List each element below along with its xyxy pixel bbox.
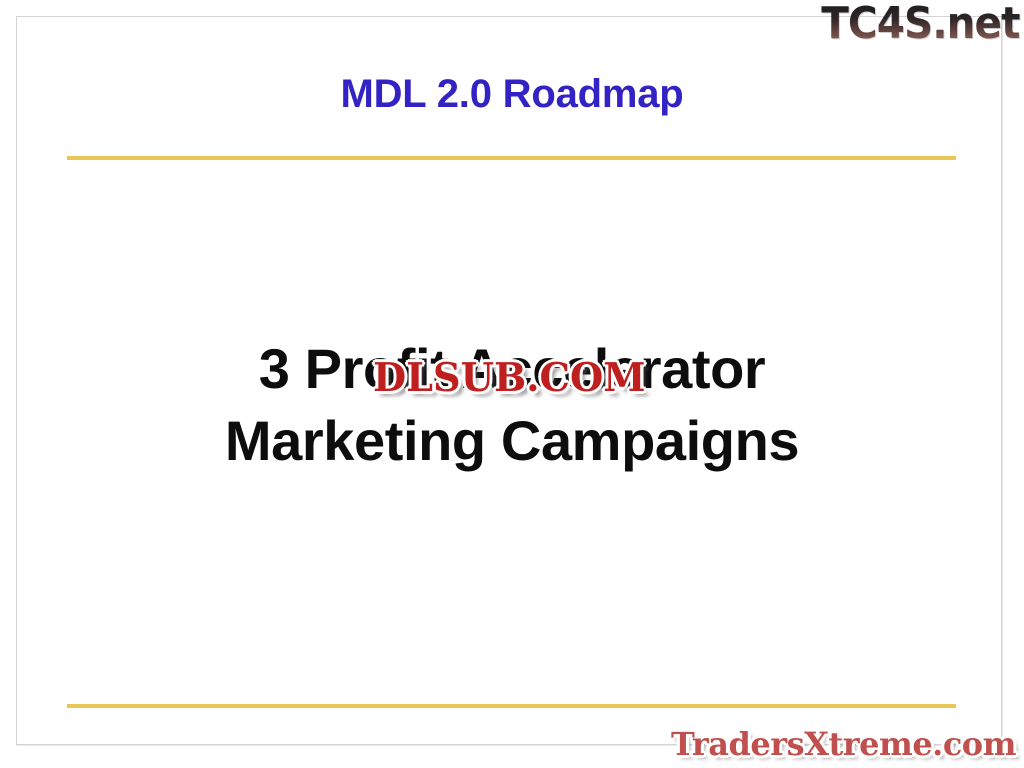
watermark-tc4s-net: TC4S.net [822,2,1020,46]
page-title: MDL 2.0 Roadmap [0,72,1024,116]
watermark-tradersxtreme-com: TradersXtreme.com [671,728,1016,760]
slide-canvas: MDL 2.0 Roadmap 3 Profit Accelerator Mar… [0,0,1024,768]
bottom-divider-rule [67,704,956,708]
body-heading-line-2: Marketing Campaigns [0,405,1024,477]
top-divider-rule [67,156,956,160]
watermark-dlsub-com: DLSUB.COM [373,359,646,398]
